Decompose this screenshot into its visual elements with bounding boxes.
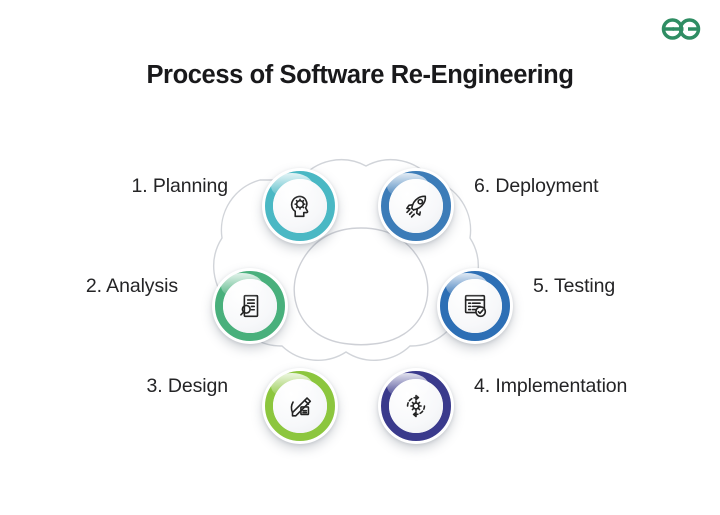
step-label-planning: 1. Planning (132, 175, 228, 198)
checklist-check-icon (460, 291, 490, 321)
node-inner-implementation (389, 379, 443, 433)
step-label-analysis: 2. Analysis (86, 275, 178, 298)
pen-drawing-icon (285, 391, 315, 421)
step-node-planning[interactable] (262, 168, 338, 244)
geeksforgeeks-logo (658, 14, 704, 44)
node-inner-design (273, 379, 327, 433)
step-node-testing[interactable] (437, 268, 513, 344)
node-inner-deployment (389, 179, 443, 233)
node-inner-analysis (223, 279, 277, 333)
gear-cog-icon (401, 391, 431, 421)
step-node-analysis[interactable] (212, 268, 288, 344)
step-label-testing: 5. Testing (533, 275, 615, 298)
step-label-implementation: 4. Implementation (474, 375, 627, 398)
rocket-icon (401, 191, 431, 221)
page-title: Process of Software Re-Engineering (0, 61, 720, 90)
node-inner-planning (273, 179, 327, 233)
step-node-deployment[interactable] (378, 168, 454, 244)
step-label-design: 3. Design (147, 375, 228, 398)
document-magnifier-icon (235, 291, 265, 321)
node-inner-testing (448, 279, 502, 333)
step-node-design[interactable] (262, 368, 338, 444)
step-node-implementation[interactable] (378, 368, 454, 444)
step-label-deployment: 6. Deployment (474, 175, 598, 198)
process-cycle-diagram: 1. Planning 6. Deployment (0, 130, 720, 470)
head-gear-icon (285, 191, 315, 221)
